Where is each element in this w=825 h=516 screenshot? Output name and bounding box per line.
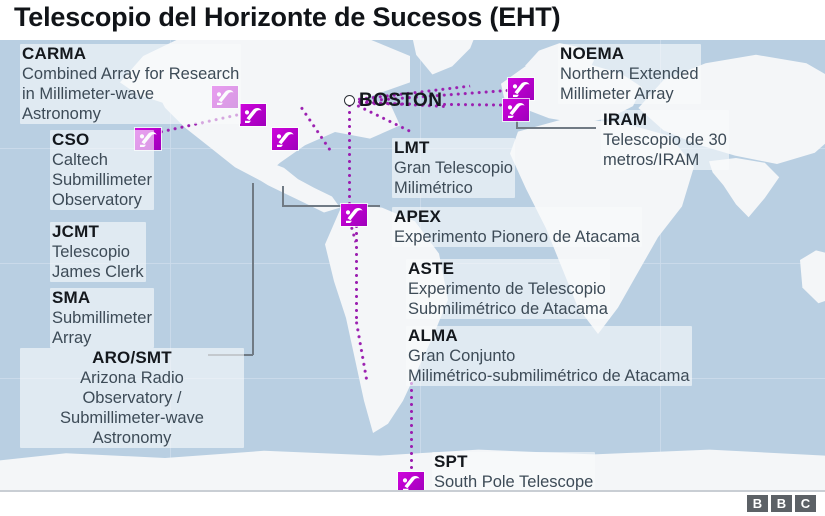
satellite-dish-icon [508, 78, 534, 100]
label-cso-key: CSO [52, 130, 152, 150]
boston-hub-marker [344, 95, 355, 106]
label-jcmt-desc-line: Telescopio [52, 242, 144, 262]
label-cso-desc-line: Observatory [52, 190, 152, 210]
label-apex-key: APEX [394, 207, 640, 227]
label-aste-key: ASTE [408, 259, 608, 279]
link-spt-vertical [410, 380, 413, 476]
label-noema: NOEMA Northern Extended Millimeter Array [558, 44, 701, 104]
satellite-dish-icon [503, 99, 529, 121]
label-noema-desc-line: Millimeter Array [560, 84, 699, 104]
telescope-icon-iram[interactable] [503, 99, 529, 121]
landmass-india [700, 158, 790, 238]
label-alma-desc-line: Milimétrico-submilimétrico de Atacama [408, 366, 690, 386]
label-lmt-desc-line: Gran Telescopio [394, 158, 513, 178]
label-cso-desc-line: Submillimeter [52, 170, 152, 190]
bbc-logo-letter: C [795, 495, 816, 512]
leader-line-iram [516, 127, 596, 129]
label-arosmt-desc-line: Observatory / [22, 388, 242, 408]
landmass-australia [800, 248, 825, 308]
satellite-dish-icon [341, 204, 367, 226]
label-cso-desc-line: Caltech [52, 150, 152, 170]
label-aste: ASTE Experimento de Telescopio Submilimé… [406, 259, 610, 319]
label-spt: SPT South Pole Telescope [432, 452, 595, 492]
label-spt-key: SPT [434, 452, 593, 472]
label-noema-key: NOEMA [560, 44, 699, 64]
label-iram-desc-line: metros/IRAM [603, 150, 727, 170]
label-aste-desc-line: Submilimétrico de Atacama [408, 299, 608, 319]
boston-label: BOSTON [359, 90, 442, 112]
label-carma-desc-line: in Millimeter-wave [22, 84, 239, 104]
label-iram-key: IRAM [603, 110, 727, 130]
label-apex: APEX Experimento Pionero de Atacama [392, 207, 642, 247]
label-arosmt: ARO/SMT Arizona Radio Observatory / Subm… [20, 348, 244, 448]
telescope-icon-arosmt[interactable] [272, 128, 298, 150]
telescope-icon-atacama[interactable] [341, 204, 367, 226]
label-sma: SMA Submillimeter Array [50, 288, 154, 348]
satellite-dish-icon [272, 128, 298, 150]
leader-line-arosmt [252, 183, 254, 355]
bbc-logo: B B C [747, 495, 816, 512]
label-arosmt-key: ARO/SMT [22, 348, 242, 368]
label-aste-desc-line: Experimento de Telescopio [408, 279, 608, 299]
label-carma-key: CARMA [22, 44, 239, 64]
label-iram-desc-line: Telescopio de 30 [603, 130, 727, 150]
footer-divider [0, 490, 825, 492]
label-noema-desc-line: Northern Extended [560, 64, 699, 84]
label-arosmt-desc-line: Astronomy [22, 428, 242, 448]
infographic-root: BOSTON Telescopio del Horizonte de Suces… [0, 0, 825, 516]
satellite-dish-icon [398, 472, 424, 490]
telescope-icon-sma[interactable] [240, 104, 266, 126]
landmass-greenland [400, 38, 490, 86]
link-boston-south [348, 102, 351, 212]
label-lmt-key: LMT [394, 138, 513, 158]
label-jcmt-desc-line: James Clerk [52, 262, 144, 282]
leader-line-lmt [282, 186, 284, 206]
label-sma-desc-line: Submillimeter [52, 308, 152, 328]
label-cso: CSO Caltech Submillimeter Observatory [50, 130, 154, 210]
label-carma-desc-line: Astronomy [22, 104, 239, 124]
label-iram: IRAM Telescopio de 30 metros/IRAM [601, 110, 729, 170]
label-arosmt-desc-line: Arizona Radio [22, 368, 242, 388]
label-arosmt-desc-line: Submillimeter-wave [22, 408, 242, 428]
link-chile-spt [355, 216, 358, 320]
bbc-logo-letter: B [747, 495, 768, 512]
label-lmt: LMT Gran Telescopio Milimétrico [392, 138, 515, 198]
label-apex-desc-line: Experimento Pionero de Atacama [394, 227, 640, 247]
page-title: Telescopio del Horizonte de Sucesos (EHT… [14, 2, 560, 33]
label-lmt-desc-line: Milimétrico [394, 178, 513, 198]
footer: B B C [0, 490, 825, 516]
label-alma-key: ALMA [408, 326, 690, 346]
label-spt-desc-line: South Pole Telescope [434, 472, 593, 492]
label-carma: CARMA Combined Array for Research in Mil… [20, 44, 241, 124]
bbc-logo-letter: B [771, 495, 792, 512]
telescope-icon-noema[interactable] [508, 78, 534, 100]
title-bar: Telescopio del Horizonte de Sucesos (EHT… [0, 0, 825, 40]
telescope-icon-spt[interactable] [398, 472, 424, 490]
label-sma-desc-line: Array [52, 328, 152, 348]
label-alma-desc-line: Gran Conjunto [408, 346, 690, 366]
label-jcmt-key: JCMT [52, 222, 144, 242]
label-carma-desc-line: Combined Array for Research [22, 64, 239, 84]
landmass-central-america [240, 158, 340, 220]
label-sma-key: SMA [52, 288, 152, 308]
satellite-dish-icon [240, 104, 266, 126]
label-alma: ALMA Gran Conjunto Milimétrico-submilimé… [406, 326, 692, 386]
label-jcmt: JCMT Telescopio James Clerk [50, 222, 146, 282]
